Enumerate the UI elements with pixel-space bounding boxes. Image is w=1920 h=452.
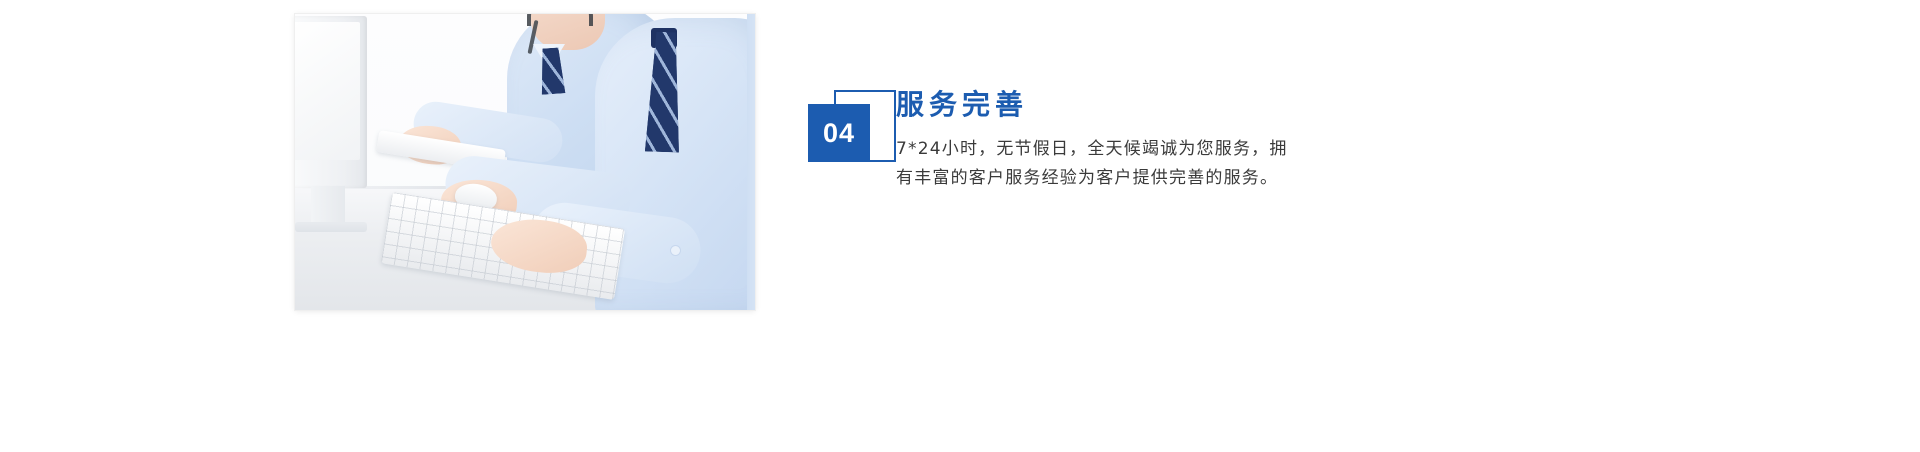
promo-section: 04 服务完善 7*24小时，无节假日，全天候竭诚为您服务，拥有丰富的客户服务经… <box>0 0 1920 452</box>
badge-filled-square: 04 <box>808 104 870 162</box>
badge-number: 04 <box>823 120 855 147</box>
person-front-edge <box>747 14 755 310</box>
monitor-stand <box>311 186 345 226</box>
monitor-base <box>295 222 367 232</box>
text-column: 服务完善 7*24小时，无节假日，全天候竭诚为您服务，拥有丰富的客户服务经验为客… <box>896 90 1316 193</box>
section-description: 7*24小时，无节假日，全天候竭诚为您服务，拥有丰富的客户服务经验为客户提供完善… <box>896 135 1292 193</box>
section-title: 服务完善 <box>896 90 1316 121</box>
feature-photo <box>295 14 755 310</box>
step-badge: 04 <box>808 90 896 176</box>
cuff-button <box>671 246 680 255</box>
monitor <box>295 16 367 188</box>
monitor-screen <box>295 22 360 160</box>
photo-canvas <box>295 14 755 310</box>
